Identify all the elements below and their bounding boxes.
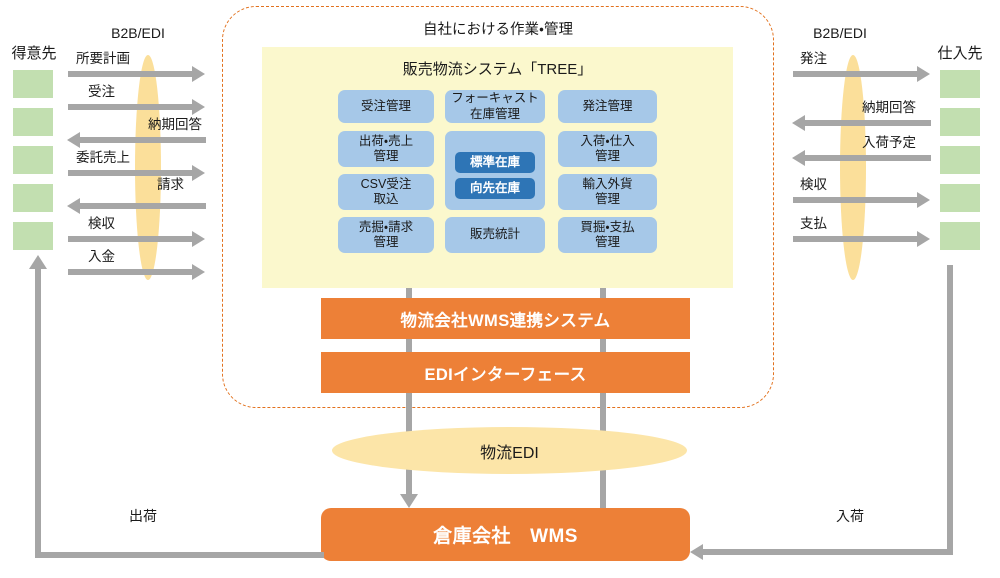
inbound-flow-line-v bbox=[947, 265, 953, 553]
left-flow-label: 検収 bbox=[88, 217, 115, 231]
module-tile[interactable]: 買掘・支払管理 bbox=[558, 217, 657, 253]
right-flow-line bbox=[793, 236, 919, 242]
right-flow-line bbox=[793, 197, 919, 203]
wms-inbound-arrowhead bbox=[400, 494, 418, 508]
system-bar-wms-link[interactable]: 物流会社WMS連携システム bbox=[321, 298, 690, 339]
outbound-flow-arrowhead bbox=[29, 255, 47, 269]
left-flow-line bbox=[68, 170, 194, 176]
module-tile[interactable]: 入荷・仕入管理 bbox=[558, 131, 657, 167]
system-bar-edi-interface[interactable]: EDIインターフェース bbox=[321, 352, 690, 393]
left-flow-arrowhead bbox=[67, 198, 80, 214]
inbound-flow-arrowhead bbox=[690, 544, 703, 560]
left-party-box bbox=[13, 146, 53, 174]
tree-system-title: 販売物流システム「TREE」 bbox=[262, 58, 733, 79]
left-flow-arrowhead bbox=[67, 132, 80, 148]
left-flow-line bbox=[68, 104, 194, 110]
diagram-canvas: 得意先 B2B/EDI 所要計画 受注 納期回答 委託売上 請求 検収 入金 仕… bbox=[0, 0, 1000, 578]
outbound-flow-label: 出荷 bbox=[129, 509, 157, 523]
left-flow-arrowhead bbox=[192, 66, 205, 82]
right-flow-arrowhead bbox=[792, 115, 805, 131]
left-flow-arrowhead bbox=[192, 231, 205, 247]
internal-region-title: 自社における作業・管理 bbox=[222, 18, 774, 39]
outbound-flow-line-v bbox=[35, 268, 41, 556]
left-party-box bbox=[13, 222, 53, 250]
left-flow-label: 委託売上 bbox=[76, 151, 130, 165]
module-sub-tile[interactable]: 向先在庫 bbox=[455, 178, 535, 199]
right-flow-arrowhead bbox=[917, 192, 930, 208]
module-tile[interactable]: 発注管理 bbox=[558, 90, 657, 123]
right-party-label: 仕入先 bbox=[926, 42, 994, 63]
inbound-flow-line-h bbox=[703, 549, 953, 555]
left-flow-arrowhead bbox=[192, 165, 205, 181]
left-flow-label: 請求 bbox=[157, 178, 184, 192]
right-party-box bbox=[940, 222, 980, 250]
right-channel-label: B2B/EDI bbox=[790, 25, 890, 41]
right-flow-label: 入荷予定 bbox=[862, 136, 916, 150]
right-edi-channel-ellipse bbox=[840, 55, 866, 280]
left-edi-channel-ellipse bbox=[135, 55, 161, 280]
left-flow-arrowhead bbox=[192, 99, 205, 115]
right-party-box bbox=[940, 108, 980, 136]
module-tile[interactable]: 受注管理 bbox=[338, 90, 434, 123]
right-flow-label: 納期回答 bbox=[862, 101, 916, 115]
module-tile[interactable]: 販売統計 bbox=[445, 217, 545, 253]
right-flow-line bbox=[805, 120, 931, 126]
module-tile[interactable]: フォーキャスト在庫管理 bbox=[445, 90, 545, 123]
inbound-flow-label: 入荷 bbox=[836, 509, 864, 523]
logistics-edi-ellipse: 物流EDI bbox=[332, 427, 687, 474]
right-flow-arrowhead bbox=[917, 231, 930, 247]
left-party-box bbox=[13, 108, 53, 136]
right-flow-label: 発注 bbox=[800, 52, 827, 66]
right-party-box bbox=[940, 70, 980, 98]
right-flow-arrowhead bbox=[792, 150, 805, 166]
right-flow-line bbox=[793, 71, 919, 77]
left-flow-label: 所要計画 bbox=[76, 52, 130, 66]
left-party-box bbox=[13, 70, 53, 98]
right-flow-line bbox=[805, 155, 931, 161]
left-party-box bbox=[13, 184, 53, 212]
left-party-label: 得意先 bbox=[0, 42, 68, 63]
right-party-box bbox=[940, 146, 980, 174]
module-tile[interactable]: 出荷・売上管理 bbox=[338, 131, 434, 167]
left-flow-label: 納期回答 bbox=[148, 118, 202, 132]
left-channel-label: B2B/EDI bbox=[88, 25, 188, 41]
left-flow-line bbox=[80, 137, 206, 143]
left-flow-line bbox=[68, 71, 194, 77]
right-flow-arrowhead bbox=[917, 66, 930, 82]
module-sub-tile[interactable]: 標準在庫 bbox=[455, 152, 535, 173]
right-party-box bbox=[940, 184, 980, 212]
right-flow-label: 支払 bbox=[800, 217, 827, 231]
module-tile[interactable]: 売掘・請求管理 bbox=[338, 217, 434, 253]
left-flow-line bbox=[68, 236, 194, 242]
warehouse-wms-box[interactable]: 倉庫会社 WMS bbox=[321, 508, 690, 561]
left-flow-line bbox=[68, 269, 194, 275]
outbound-flow-line-h bbox=[35, 552, 324, 558]
left-flow-arrowhead bbox=[192, 264, 205, 280]
left-flow-label: 受注 bbox=[88, 85, 115, 99]
right-flow-label: 検収 bbox=[800, 178, 827, 192]
left-flow-line bbox=[80, 203, 206, 209]
left-flow-label: 入金 bbox=[88, 250, 115, 264]
module-tile[interactable]: 輸入外貨管理 bbox=[558, 174, 657, 210]
module-tile[interactable]: CSV受注取込 bbox=[338, 174, 434, 210]
